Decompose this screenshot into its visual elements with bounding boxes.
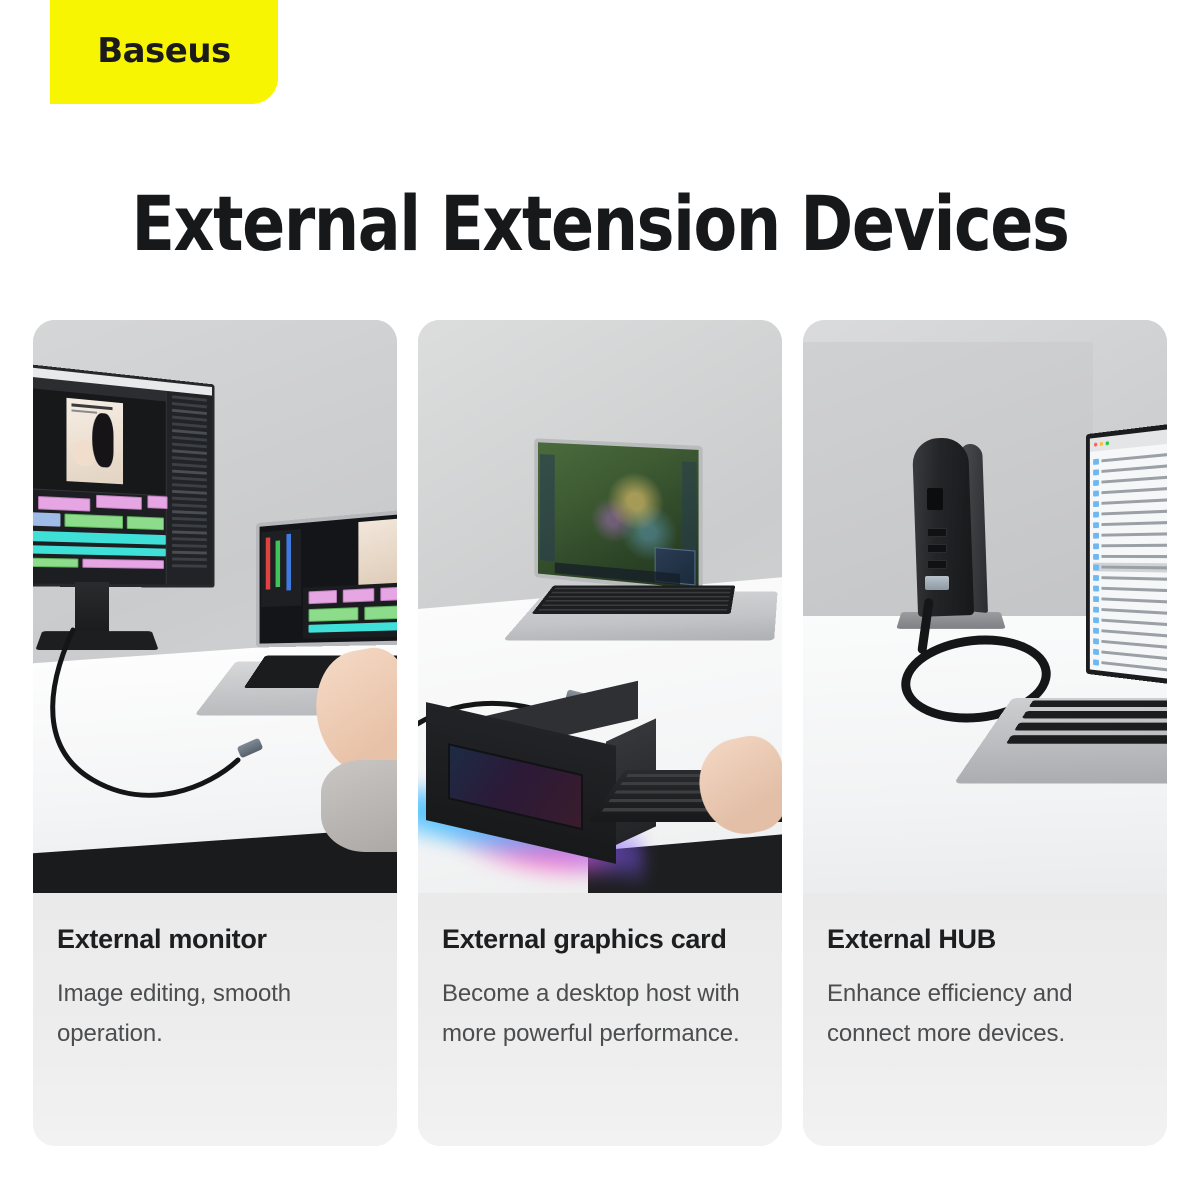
list-item xyxy=(1093,573,1167,584)
laptop-timeline xyxy=(303,582,397,639)
external-monitor-device xyxy=(33,358,215,588)
feature-card-external-graphics-card[interactable]: External graphics card Become a desktop … xyxy=(418,320,782,1146)
laptop-screen xyxy=(534,438,702,593)
list-item xyxy=(1093,552,1167,561)
photo-external-graphics-card xyxy=(418,320,782,893)
feature-card-external-monitor[interactable]: External monitor Image editing, smooth o… xyxy=(33,320,397,1146)
laptop-screen xyxy=(256,508,397,647)
preview-subcaption-line xyxy=(71,409,97,413)
egpu-viewing-window xyxy=(448,743,583,830)
minimize-icon[interactable] xyxy=(1100,442,1103,446)
card-body-text: Become a desktop host with more powerful… xyxy=(442,974,758,1054)
editor-timeline xyxy=(33,486,166,585)
hub-usb-port-2 xyxy=(927,544,947,553)
card-body-text: Image editing, smooth operation. xyxy=(57,974,373,1054)
list-item xyxy=(1093,517,1167,529)
card-body-text: Enhance efficiency and connect more devi… xyxy=(827,974,1143,1054)
close-icon[interactable] xyxy=(1094,442,1097,446)
finder-file-list xyxy=(1090,446,1167,681)
photo-external-hub xyxy=(803,320,1167,893)
hub-usb-plug xyxy=(925,576,949,590)
preview-subject-woman xyxy=(92,412,113,468)
marketing-page: Baseus External Extension Devices xyxy=(0,0,1200,1200)
hub-usb-port-3 xyxy=(927,560,947,569)
laptop-screen xyxy=(1086,421,1167,687)
list-item xyxy=(1093,540,1167,550)
video-preview-frame xyxy=(66,398,123,484)
maximize-icon[interactable] xyxy=(1106,441,1109,445)
page-title: External Extension Devices xyxy=(42,182,1158,266)
laptop-preview-frame xyxy=(358,518,397,589)
card-heading: External HUB xyxy=(827,923,1143,956)
feature-card-row: External monitor Image editing, smooth o… xyxy=(33,320,1167,1146)
hub-usb-port-1 xyxy=(927,528,947,537)
editor-side-panel xyxy=(166,391,212,585)
list-item-selected xyxy=(1093,563,1167,573)
brand-badge: Baseus xyxy=(50,0,278,104)
caption-external-monitor: External monitor Image editing, smooth o… xyxy=(33,893,397,1146)
list-item xyxy=(1093,529,1167,540)
list-item xyxy=(1093,506,1167,519)
caption-external-graphics-card: External graphics card Become a desktop … xyxy=(418,893,782,1146)
game-hud-left xyxy=(540,454,555,561)
laptop-keyboard xyxy=(531,585,735,614)
hub-sd-card-slot xyxy=(927,488,943,510)
brand-logo-text: Baseus xyxy=(97,31,231,71)
card-heading: External graphics card xyxy=(442,923,758,956)
caption-external-hub: External HUB Enhance efficiency and conn… xyxy=(803,893,1167,1146)
game-hud-right xyxy=(682,461,696,559)
feature-card-external-hub[interactable]: External HUB Enhance efficiency and conn… xyxy=(803,320,1167,1146)
photo-external-monitor xyxy=(33,320,397,893)
card-heading: External monitor xyxy=(57,923,373,956)
user-sleeve xyxy=(321,760,397,852)
usbc-cable xyxy=(33,620,333,840)
laptop-scopes-panel xyxy=(261,529,301,607)
